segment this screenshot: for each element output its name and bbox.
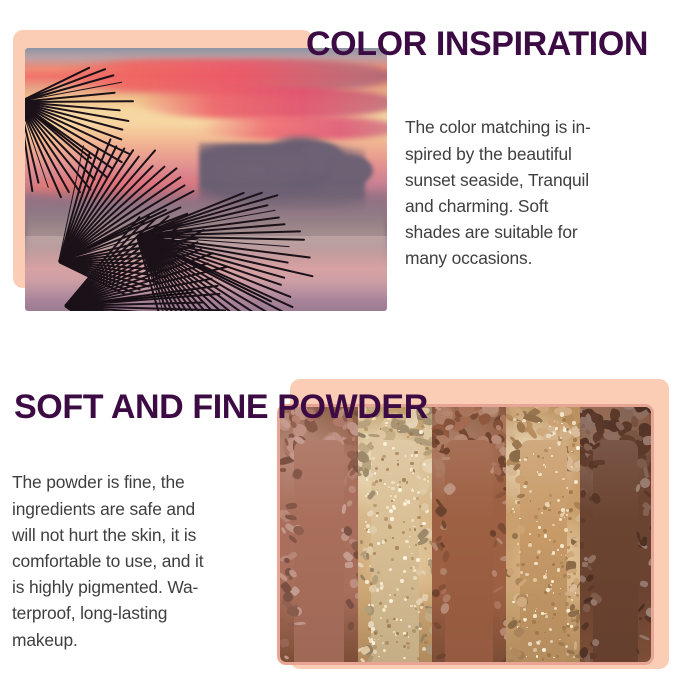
glitter-fleck — [576, 446, 580, 450]
poster-page: COLOR INSPIRATION The color matching is … — [0, 0, 679, 679]
glitter-fleck — [424, 641, 428, 645]
glitter-fleck — [396, 641, 398, 643]
loose-powder-fleck — [640, 423, 648, 432]
glitter-fleck — [382, 642, 384, 644]
loose-powder-fleck — [642, 509, 649, 516]
glitter-fleck — [529, 490, 532, 493]
glitter-fleck — [551, 602, 555, 606]
glitter-fleck — [380, 585, 384, 589]
glitter-fleck — [560, 544, 564, 548]
sunset-scene — [25, 48, 387, 311]
glitter-fleck — [516, 563, 520, 567]
glitter-fleck — [389, 428, 393, 432]
glitter-fleck — [403, 657, 405, 659]
palette-stripes — [280, 407, 651, 662]
heading-soft-and-fine-powder: SOFT AND FINE POWDER — [14, 390, 428, 424]
glitter-fleck — [380, 582, 383, 585]
loose-powder-fleck — [573, 578, 579, 585]
glitter-fleck — [383, 649, 386, 652]
glitter-fleck — [389, 570, 390, 571]
glitter-fleck — [561, 423, 562, 424]
glitter-fleck — [524, 458, 527, 461]
glitter-fleck — [566, 514, 568, 516]
glitter-fleck — [382, 540, 385, 543]
glitter-fleck — [513, 418, 516, 421]
glitter-fleck — [413, 497, 416, 500]
glitter-fleck — [409, 459, 410, 460]
glitter-fleck — [564, 528, 568, 532]
glitter-fleck — [398, 488, 402, 492]
glitter-fleck — [384, 605, 387, 608]
palm-leaflet — [25, 100, 134, 102]
glitter-fleck — [552, 551, 555, 554]
glitter-fleck — [390, 473, 391, 474]
glitter-fleck — [371, 631, 373, 633]
glitter-fleck — [534, 562, 537, 565]
palm-frond-lower-left — [59, 260, 60, 261]
glitter-fleck — [536, 655, 538, 657]
glitter-fleck — [535, 631, 539, 635]
loose-powder-fleck — [581, 423, 585, 427]
glitter-fleck — [542, 457, 543, 458]
glitter-fleck — [523, 608, 526, 611]
glitter-fleck — [391, 487, 394, 490]
glitter-fleck — [415, 608, 417, 610]
glitter-fleck — [526, 627, 527, 628]
glitter-fleck — [387, 624, 391, 628]
glitter-fleck — [386, 468, 389, 471]
loose-powder-fleck — [421, 593, 428, 601]
glitter-fleck — [365, 521, 367, 523]
glitter-fleck — [563, 574, 566, 577]
glitter-fleck — [390, 517, 394, 521]
loose-powder-fleck — [593, 460, 605, 465]
loose-powder-fleck — [441, 410, 453, 416]
glitter-fleck — [573, 438, 577, 442]
glitter-fleck — [375, 467, 378, 470]
palette-swatch-shimmer-bronze-gold — [506, 407, 580, 662]
glitter-fleck — [560, 562, 562, 564]
glitter-fleck — [420, 606, 423, 609]
glitter-fleck — [566, 625, 569, 628]
glitter-fleck — [407, 646, 410, 649]
glitter-fleck — [407, 500, 410, 503]
glitter-fleck — [549, 539, 551, 541]
glitter-fleck — [373, 645, 377, 649]
glitter-fleck — [427, 476, 429, 478]
loose-powder-fleck — [344, 561, 353, 568]
glitter-fleck — [559, 639, 561, 641]
glitter-fleck — [533, 578, 537, 582]
glitter-fleck — [395, 546, 398, 549]
palette-swatch-matte-caramel-brown — [432, 407, 506, 662]
glitter-fleck — [560, 412, 564, 416]
glitter-fleck — [364, 427, 367, 430]
glitter-fleck — [544, 632, 546, 634]
glitter-fleck — [533, 614, 537, 618]
glitter-fleck — [543, 464, 545, 466]
glitter-fleck — [532, 620, 536, 624]
palette-scene — [280, 407, 651, 662]
glitter-fleck — [411, 519, 414, 522]
glitter-fleck — [519, 459, 521, 461]
glitter-fleck — [558, 511, 561, 514]
glitter-fleck — [572, 421, 576, 425]
glitter-fleck — [538, 526, 541, 529]
pressed-powder-pan — [520, 440, 568, 662]
loose-powder-fleck — [650, 431, 651, 435]
glitter-fleck — [545, 615, 548, 618]
glitter-fleck — [372, 482, 376, 486]
glitter-fleck — [562, 626, 566, 630]
glitter-fleck — [393, 499, 395, 501]
glitter-fleck — [372, 457, 375, 460]
glitter-fleck — [542, 658, 544, 660]
glitter-fleck — [413, 576, 417, 580]
glitter-fleck — [536, 521, 538, 523]
loose-powder-fleck — [280, 468, 286, 472]
glitter-fleck — [400, 619, 402, 621]
eyeshadow-powder-closeup — [277, 404, 654, 665]
glitter-fleck — [377, 571, 380, 574]
glitter-fleck — [379, 602, 382, 605]
glitter-fleck — [413, 526, 414, 527]
glitter-fleck — [416, 497, 419, 500]
pressed-powder-pan — [445, 440, 493, 662]
glitter-fleck — [411, 454, 414, 457]
glitter-fleck — [529, 533, 531, 535]
glitter-fleck — [403, 556, 407, 560]
glitter-fleck — [551, 580, 554, 583]
glitter-fleck — [559, 593, 561, 595]
glitter-fleck — [572, 451, 574, 453]
palette-swatch-matte-warm-rose-brown — [280, 407, 358, 662]
sunset-seaside-photo — [25, 48, 387, 311]
glitter-fleck — [544, 534, 548, 538]
glitter-fleck — [545, 502, 549, 506]
glitter-fleck — [376, 515, 377, 516]
glitter-fleck — [388, 486, 390, 488]
palm-frond-bottom — [65, 304, 66, 305]
glitter-fleck — [415, 454, 418, 457]
glitter-fleck — [417, 657, 420, 660]
glitter-fleck — [395, 452, 398, 455]
glitter-fleck — [575, 592, 576, 593]
loose-powder-fleck — [351, 436, 355, 441]
glitter-fleck — [384, 483, 386, 485]
body-copy-soft-and-fine-powder: The powder is fine, the ingredients are … — [12, 469, 274, 652]
glitter-fleck — [523, 618, 527, 622]
glitter-fleck — [547, 653, 550, 656]
glitter-fleck — [394, 594, 396, 596]
pressed-powder-pan — [593, 440, 638, 662]
glitter-fleck — [382, 608, 386, 612]
glitter-fleck — [551, 455, 553, 457]
glitter-fleck — [389, 594, 391, 596]
glitter-fleck — [410, 462, 413, 465]
glitter-fleck — [552, 524, 555, 527]
glitter-fleck — [533, 453, 534, 454]
glitter-fleck — [553, 592, 554, 593]
glitter-fleck — [560, 437, 562, 439]
glitter-fleck — [550, 640, 553, 643]
glitter-fleck — [557, 549, 559, 551]
glitter-fleck — [528, 642, 532, 646]
glitter-fleck — [524, 481, 528, 485]
glitter-fleck — [563, 512, 565, 514]
glitter-fleck — [409, 432, 413, 436]
heading-color-inspiration: COLOR INSPIRATION — [306, 27, 648, 61]
glitter-fleck — [412, 472, 413, 473]
glitter-fleck — [541, 612, 544, 615]
glitter-fleck — [406, 481, 408, 483]
glitter-fleck — [408, 625, 411, 628]
glitter-fleck — [380, 635, 382, 637]
glitter-fleck — [567, 546, 570, 549]
glitter-fleck — [405, 455, 406, 456]
loose-powder-fleck — [582, 410, 586, 417]
loose-powder-fleck — [360, 539, 364, 543]
glitter-fleck — [562, 478, 564, 480]
glitter-fleck — [373, 504, 376, 507]
loose-powder-fleck — [499, 661, 507, 662]
glitter-fleck — [533, 594, 534, 595]
palette-swatch-matte-deep-cocoa — [580, 407, 650, 662]
glitter-fleck — [374, 472, 376, 474]
glitter-fleck — [411, 557, 414, 560]
glitter-fleck — [376, 512, 378, 514]
loose-powder-fleck — [442, 456, 450, 460]
glitter-fleck — [403, 570, 406, 573]
body-copy-color-inspiration: The color matching is in- spired by the … — [405, 114, 655, 271]
glitter-fleck — [396, 632, 399, 635]
glitter-fleck — [565, 602, 569, 606]
glitter-fleck — [533, 648, 537, 652]
glitter-fleck — [383, 449, 384, 450]
glitter-fleck — [554, 421, 555, 422]
glitter-fleck — [528, 543, 532, 547]
glitter-fleck — [512, 508, 514, 510]
palette-swatch-shimmer-champagne-gold — [358, 407, 432, 662]
glitter-fleck — [417, 516, 421, 520]
glitter-fleck — [536, 556, 539, 559]
cloud-streak-mid — [134, 87, 387, 119]
glitter-fleck — [553, 657, 555, 659]
glitter-fleck — [538, 534, 541, 537]
glitter-fleck — [544, 449, 548, 453]
glitter-fleck — [383, 442, 387, 446]
glitter-fleck — [546, 588, 549, 591]
cloud-puff-b — [268, 151, 308, 177]
glitter-fleck — [549, 628, 552, 631]
glitter-fleck — [511, 511, 513, 513]
glitter-fleck — [406, 642, 409, 645]
glitter-fleck — [386, 619, 390, 623]
glitter-fleck — [566, 487, 568, 489]
glitter-fleck — [523, 485, 527, 489]
glitter-fleck — [422, 522, 426, 526]
glitter-fleck — [568, 517, 572, 521]
cloud-puff-c — [329, 156, 372, 185]
glitter-fleck — [414, 605, 416, 607]
glitter-fleck — [408, 636, 409, 637]
